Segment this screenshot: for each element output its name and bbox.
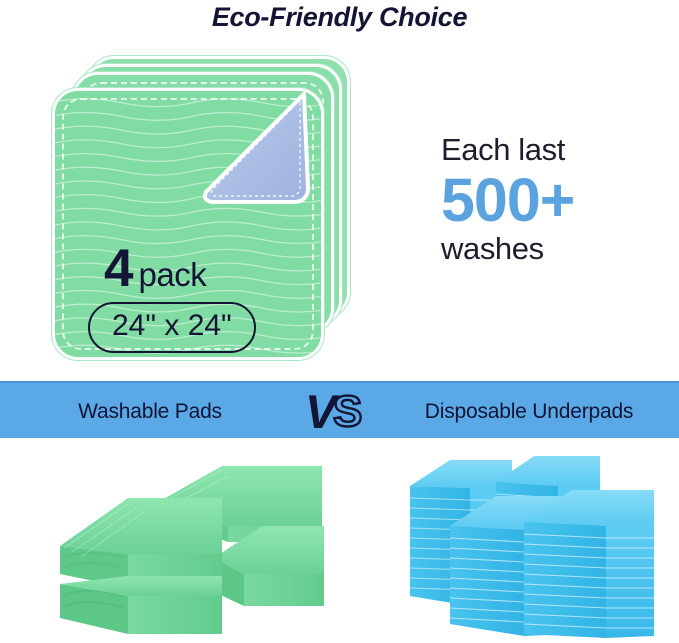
folded-corner-icon: [192, 92, 316, 210]
comparison-left-label: Washable Pads: [0, 383, 300, 440]
vs-badge-icon: V S: [303, 382, 383, 439]
pad-size-badge: 24" x 24": [88, 302, 256, 353]
comparison-right-label: Disposable Underpads: [379, 383, 679, 440]
claim-line-2: washes: [441, 232, 671, 266]
stacked-disposable-underpads-photo: [392, 446, 679, 641]
pack-count-label: 4 pack: [104, 242, 206, 295]
page-title: Eco-Friendly Choice: [0, 2, 679, 33]
svg-text:S: S: [333, 387, 362, 436]
claim-highlight-number: 500+: [441, 169, 671, 231]
claim-line-1: Each last: [441, 133, 671, 167]
pack-count-word: pack: [138, 258, 206, 291]
bottom-photo-row: [0, 438, 679, 643]
infographic-canvas: Eco-Friendly Choice: [0, 0, 679, 643]
washable-pad-stack: 4 pack 24" x 24": [44, 54, 364, 369]
pack-count-number: 4: [104, 242, 132, 295]
comparison-bar: Washable Pads V S Disposable Underpads: [0, 381, 679, 438]
wash-claim-block: Each last 500+ washes: [441, 133, 671, 266]
folded-washable-pads-photo: [32, 446, 332, 641]
